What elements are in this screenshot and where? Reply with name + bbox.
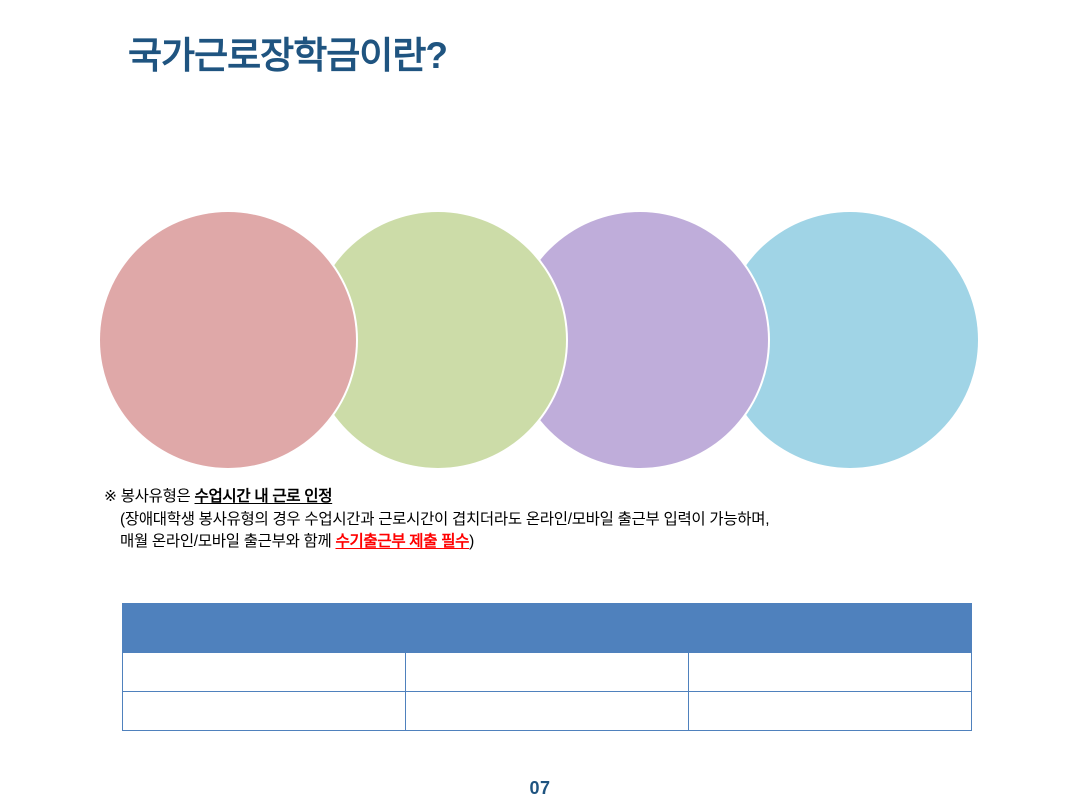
- table-header-cell-2: [406, 604, 689, 653]
- table-cell: [689, 692, 972, 731]
- footnote-block: ※ 봉사유형은 수업시간 내 근로 인정 (장애대학생 봉사유형의 경우 수업시…: [104, 486, 1004, 554]
- table-cell: [406, 692, 689, 731]
- table-cell: [406, 653, 689, 692]
- footnote-line-2-text: (장애대학생 봉사유형의 경우 수업시간과 근로시간이 겹치더라도 온라인/모바…: [120, 511, 769, 528]
- table-row: [123, 653, 972, 692]
- venn-circle-1-label: [100, 212, 356, 468]
- table-header-cell-3: [689, 604, 972, 653]
- footnote-line-1-text: ※ 봉사유형은: [104, 488, 195, 505]
- footnote-line-2: (장애대학생 봉사유형의 경우 수업시간과 근로시간이 겹치더라도 온라인/모바…: [104, 509, 1004, 532]
- table-header-row: [123, 604, 972, 653]
- footnote-line-1-emphasis: 수업시간 내 근로 인정: [195, 488, 333, 505]
- venn-diagram: [0, 212, 1080, 470]
- venn-circle-1: [100, 212, 356, 468]
- table-cell: [123, 653, 406, 692]
- table-cell: [123, 692, 406, 731]
- slide-canvas: 국가근로장학금이란? ※ 봉사유형은 수업시간 내 근로 인정 (장애대학생 봉…: [0, 0, 1080, 810]
- footnote-line-3-text: 매월 온라인/모바일 출근부와 함께: [120, 533, 335, 550]
- info-table: [122, 603, 972, 731]
- page-number: 07: [0, 778, 1080, 799]
- footnote-line-3-emphasis: 수기출근부 제출 필수: [335, 533, 469, 550]
- footnote-line-3-suffix: ): [469, 533, 474, 550]
- table-row: [123, 692, 972, 731]
- footnote-line-1: ※ 봉사유형은 수업시간 내 근로 인정: [104, 486, 1004, 509]
- footnote-line-3: 매월 온라인/모바일 출근부와 함께 수기출근부 제출 필수): [104, 531, 1004, 554]
- page-title: 국가근로장학금이란?: [128, 34, 447, 78]
- table-cell: [689, 653, 972, 692]
- table-header-cell-1: [123, 604, 406, 653]
